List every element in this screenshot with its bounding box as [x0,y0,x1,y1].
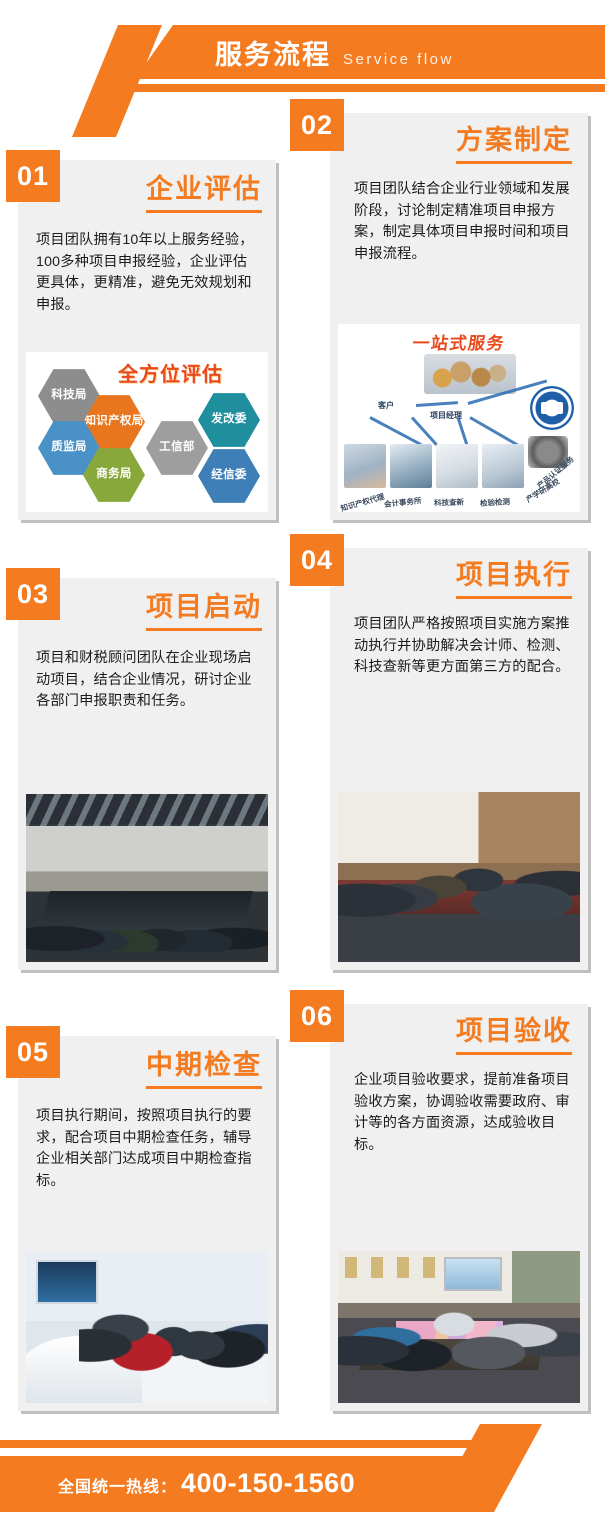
photo-ceiling [26,794,268,826]
one-stop-caption: 会计事务所 [384,495,422,510]
card-title-group: 项目启动 [146,592,262,631]
header-title-group: 服务流程 Service flow [215,33,454,72]
card-title-group: 方案制定 [456,125,572,164]
card-body-text: 项目团队结合企业行业领域和发展阶段，讨论制定精准项目申报方案，制定具体项目申报时… [354,179,572,265]
title-underline [146,210,262,213]
card-body-text: 企业项目验收要求，提前准备项目验收方案，协调验收需要政府、审计等的各方面资源，达… [354,1070,572,1156]
hexagon-node-gongxin: 工信部 [146,420,208,476]
one-stop-thumb-accounting [390,444,432,488]
photo-working-meeting [338,792,580,962]
title-underline [146,1086,262,1089]
page-footer: 全国统一热线： 400-150-1560 [0,1426,605,1538]
card-title: 方案制定 [456,125,572,156]
page-title-en: Service flow [343,51,454,68]
photo-people [338,833,580,945]
card-title: 企业评估 [146,174,262,205]
step-number-badge: 01 [6,150,60,202]
card-body-text: 项目执行期间，按照项目执行的要求，配合项目中期检查任务，辅导企业相关部门达成项目… [36,1106,260,1192]
card-title: 项目启动 [146,592,262,623]
process-card-06[interactable]: 06 项目验收 企业项目验收要求，提前准备项目验收方案，协调验收需要政府、审计等… [330,1004,588,1411]
one-stop-hub-photo [424,354,516,394]
footer-accent-line [0,1440,520,1448]
one-stop-arrow [416,401,458,407]
one-stop-thumb-novelty [436,444,478,488]
card-title-group: 中期检查 [146,1050,262,1089]
one-stop-caption: 知识产权代理 [339,491,385,512]
process-card-05[interactable]: 05 中期检查 项目执行期间，按照项目执行的要求，配合项目中期检查任务，辅导企业… [18,1036,276,1411]
step-number-badge: 05 [6,1026,60,1078]
one-stop-title: 一站式服务 [411,329,507,354]
process-card-grid: 01 企业评估 项目团队拥有10年以上服务经验，100多种项目申报经验，企业评估… [0,0,605,1430]
title-underline [456,1052,572,1055]
photo-people [338,1287,580,1396]
certification-seal-icon [530,386,574,430]
hexagon-node-fagai: 发改委 [198,392,260,448]
card-body-text: 项目团队拥有10年以上服务经验，100多种项目申报经验，企业评估更具体，更精准，… [36,230,260,316]
title-underline [456,596,572,599]
one-stop-thumb-ip [344,444,386,488]
photo-conference-room [26,794,268,962]
one-stop-service-diagram: 一站式服务 客户 项目经理 知识产权代理 会计事务所 科技查新 检验检测 产学研… [338,324,580,512]
photo-projector-screen [444,1257,501,1291]
hexagon-diagram: 全方位评估 科技局 知识产权局 质监局 商务局 工信部 发改委 经信委 [26,352,268,512]
page-title-cn: 服务流程 [215,33,331,72]
photo-acceptance-meeting [338,1251,580,1403]
photo-people [79,1275,268,1403]
one-stop-caption: 科技查新 [434,496,464,508]
photo-showroom-visit [26,1251,268,1403]
hotline-number[interactable]: 400-150-1560 [181,1468,355,1499]
process-card-02[interactable]: 02 方案制定 项目团队结合企业行业领域和发展阶段，讨论制定精准项目申报方案，制… [330,113,588,520]
one-stop-caption: 检验检测 [480,496,511,509]
photo-people [26,885,268,952]
hexagon-diagram-title: 全方位评估 [118,358,223,387]
hotline-group: 全国统一热线： 400-150-1560 [58,1468,355,1499]
process-card-01[interactable]: 01 企业评估 项目团队拥有10年以上服务经验，100多种项目申报经验，企业评估… [18,160,276,520]
process-card-04[interactable]: 04 项目执行 项目团队严格按照项目实施方案推动执行并协助解决会计师、检测、科技… [330,548,588,970]
card-title: 项目验收 [456,1016,572,1047]
title-underline [456,161,572,164]
title-underline [146,628,262,631]
card-body-text: 项目和财税顾问团队在企业现场启动项目，结合企业情况，研讨企业各部门申报职责和任务… [36,648,260,713]
card-title: 中期检查 [146,1050,262,1081]
process-card-03[interactable]: 03 项目启动 项目和财税顾问团队在企业现场启动项目，结合企业情况，研讨企业各部… [18,578,276,970]
card-title-group: 项目验收 [456,1016,572,1055]
one-stop-customer-label: 客户 [378,400,394,411]
step-number-badge: 03 [6,568,60,620]
card-title-group: 项目执行 [456,560,572,599]
one-stop-thumb-testing [482,444,524,488]
step-number-badge: 04 [290,534,344,586]
hexagon-node-jingxin: 经信委 [198,448,260,504]
card-title-group: 企业评估 [146,174,262,213]
card-body-text: 项目团队严格按照项目实施方案推动执行并协助解决会计师、检测、科技查新等更方面第三… [354,614,572,679]
hotline-label: 全国统一热线： [58,1473,177,1497]
step-number-badge: 02 [290,99,344,151]
step-number-badge: 06 [290,990,344,1042]
card-title: 项目执行 [456,560,572,591]
